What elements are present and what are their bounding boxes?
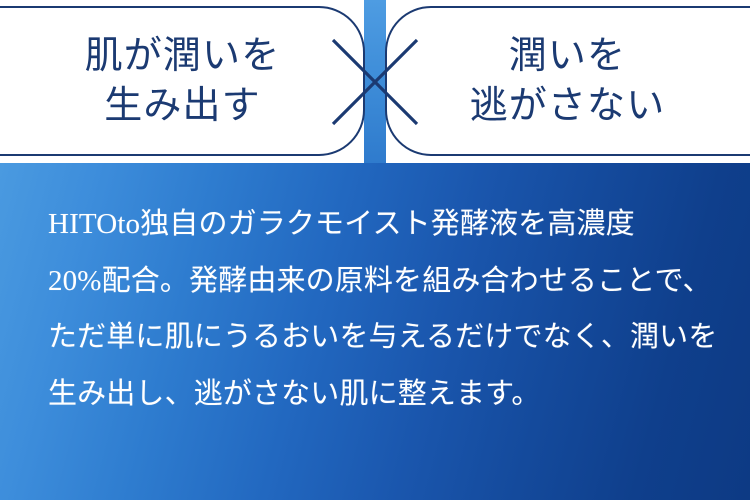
- panel-moisture-keep[interactable]: 潤いを 逃がさない: [385, 6, 750, 156]
- body-copy-line: ただ単に肌にうるおいを与えるだけでなく、潤いを: [48, 309, 718, 366]
- body-copy-line: HITOto独自のガラクモイスト発酵液を高濃度: [48, 196, 718, 253]
- panel-moisture-create[interactable]: 肌が潤いを 生み出す: [0, 6, 365, 156]
- headline-panel-area: 肌が潤いを 生み出す 潤いを 逃がさない: [0, 0, 750, 163]
- body-copy: HITOto独自のガラクモイスト発酵液を高濃度 20%配合。発酵由来の原料を組み…: [48, 196, 718, 422]
- panel-moisture-create-label: 肌が潤いを 生み出す: [0, 31, 363, 131]
- x-cross-icon: [330, 37, 420, 127]
- panel-moisture-keep-label: 潤いを 逃がさない: [387, 31, 750, 131]
- body-copy-line: 生み出し、逃がさない肌に整えます。: [48, 366, 718, 423]
- body-copy-line: 20%配合。発酵由来の原料を組み合わせることで、: [48, 253, 718, 310]
- promo-banner: 肌が潤いを 生み出す 潤いを 逃がさない HITOto独自のガラクモイスト発酵液…: [0, 0, 750, 500]
